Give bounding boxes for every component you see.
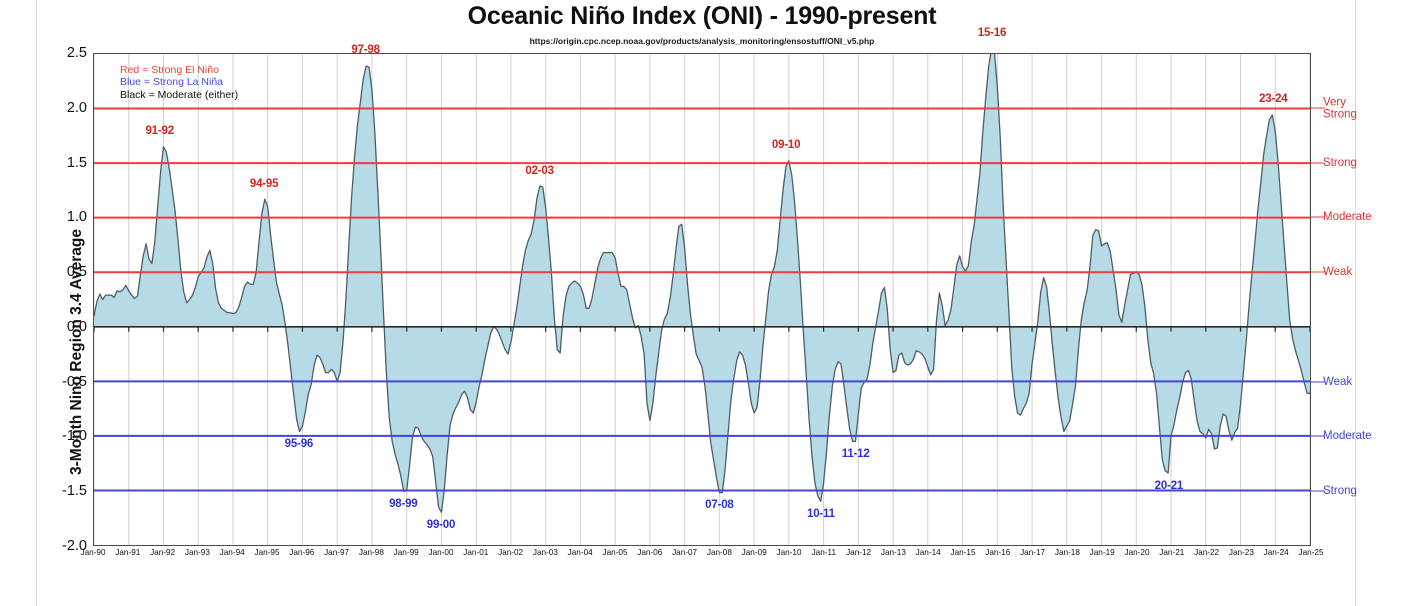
- event-annotation-15-16: 15-16: [978, 27, 1006, 39]
- event-annotation-20-21: 20-21: [1155, 480, 1183, 492]
- plot-area: [93, 53, 1311, 546]
- event-annotation-98-99: 98-99: [389, 498, 417, 510]
- event-annotation-91-92: 91-92: [145, 125, 173, 137]
- chart-legend: Red = Strong El Niño Blue = Strong La Ni…: [120, 64, 238, 101]
- y-tick-label: 1.0: [41, 209, 87, 225]
- y-tick-label: 2.5: [41, 45, 87, 61]
- event-annotation-11-12: 11-12: [842, 448, 870, 460]
- legend-item-strong-el-nino: Red = Strong El Niño: [120, 64, 238, 76]
- y-tick-label: -1.5: [41, 483, 87, 499]
- event-annotation-07-08: 07-08: [705, 499, 733, 511]
- oni-series-plot: [94, 54, 1310, 545]
- page-edge-left: [36, 0, 37, 606]
- event-annotation-95-96: 95-96: [285, 438, 313, 450]
- x-tick-label: Jan-25: [1284, 548, 1338, 557]
- event-annotation-09-10: 09-10: [772, 139, 800, 151]
- chart-source-url: https://origin.cpc.ncep.noaa.gov/product…: [0, 36, 1404, 46]
- oni-chart-figure: Oceanic Niño Index (ONI) - 1990-present …: [0, 0, 1404, 606]
- x-axis-tick-labels: Jan-90Jan-91Jan-92Jan-93Jan-94Jan-95Jan-…: [93, 548, 1311, 566]
- y-tick-label: -0.5: [41, 374, 87, 390]
- chart-title: Oceanic Niño Index (ONI) - 1990-present: [0, 2, 1404, 31]
- event-annotation-99-00: 99-00: [427, 519, 455, 531]
- event-annotation-10-11: 10-11: [807, 508, 835, 520]
- threshold-label-warm: Strong: [1323, 156, 1357, 169]
- threshold-label-cool: Weak: [1323, 375, 1352, 388]
- y-tick-label: 1.5: [41, 155, 87, 171]
- threshold-label-cool: Moderate: [1323, 430, 1372, 443]
- y-tick-label: 0.0: [41, 319, 87, 335]
- event-annotation-97-98: 97-98: [351, 44, 379, 56]
- threshold-label-warm: Weak: [1323, 266, 1352, 279]
- threshold-label-cool: Strong: [1323, 485, 1357, 498]
- event-annotation-94-95: 94-95: [250, 178, 278, 190]
- legend-item-moderate: Black = Moderate (either): [120, 89, 238, 101]
- event-annotation-02-03: 02-03: [525, 165, 553, 177]
- threshold-labels: VeryStrongStrongModerateWeakWeakModerate…: [1311, 53, 1403, 546]
- threshold-label-warm: Moderate: [1323, 211, 1372, 224]
- y-tick-label: 2.0: [41, 100, 87, 116]
- y-axis-tick-labels: 3-Month Nino Region 3.4 Average 2.52.01.…: [39, 53, 87, 546]
- y-tick-label: -1.0: [41, 428, 87, 444]
- event-annotation-23-24: 23-24: [1259, 93, 1287, 105]
- y-tick-label: 0.5: [41, 264, 87, 280]
- threshold-label-warm: VeryStrong: [1323, 96, 1357, 121]
- legend-item-strong-la-nina: Blue = Strong La Niña: [120, 76, 238, 88]
- oni-series-line: [94, 54, 1310, 512]
